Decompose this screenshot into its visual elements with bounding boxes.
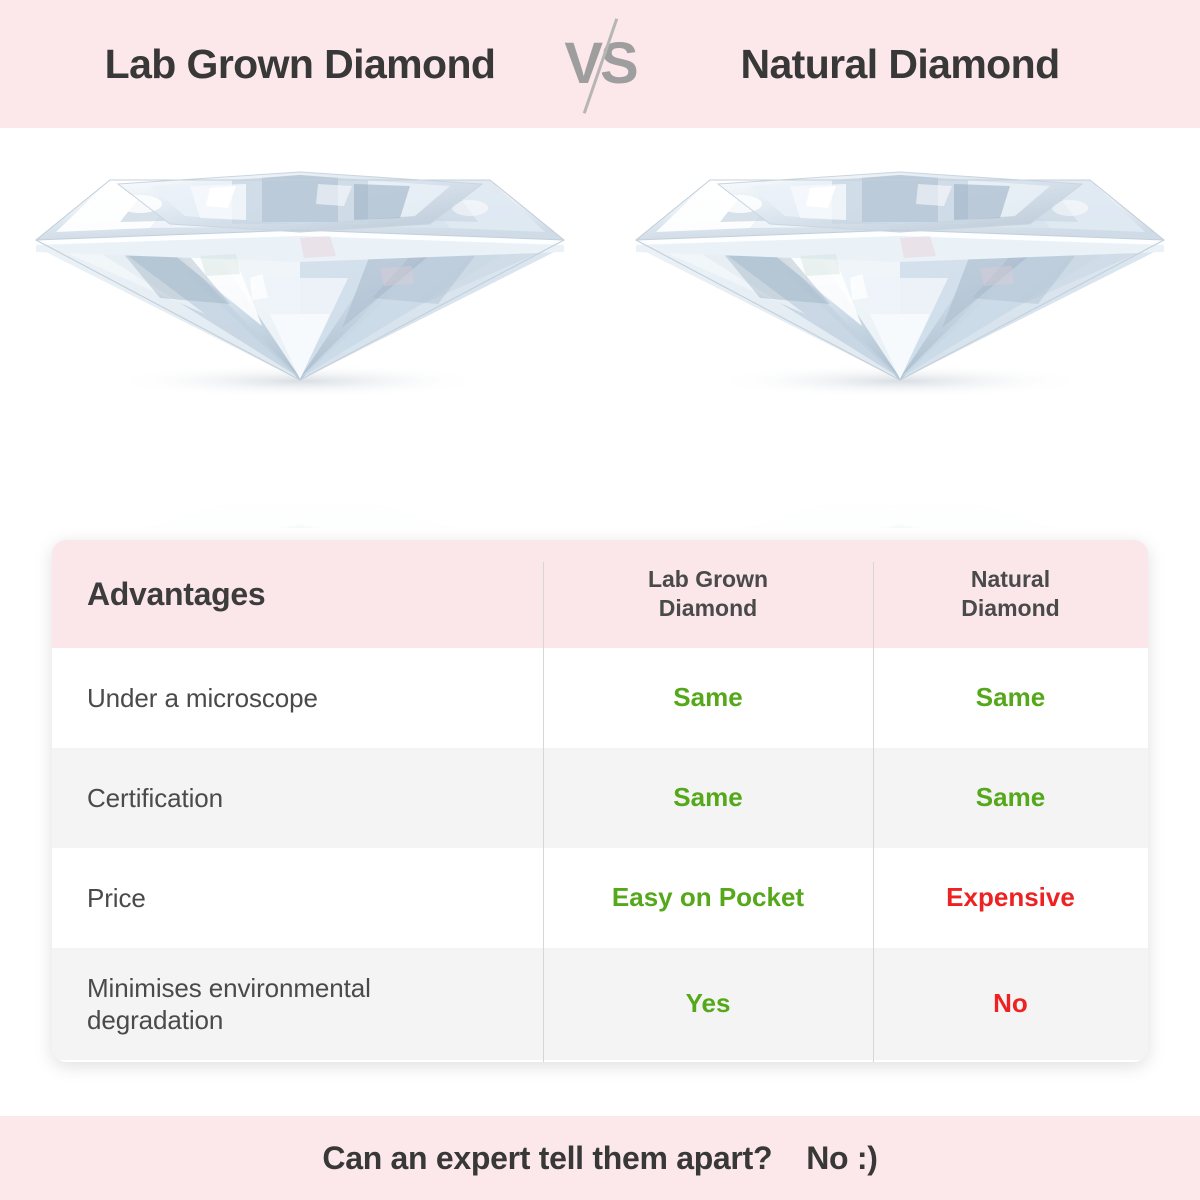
diamond-illustration-icon [600, 128, 1200, 528]
table-row: Minimises environmental degradation Yes … [52, 948, 1148, 1060]
table-header-advantages-cell: Advantages [52, 540, 543, 648]
table-header-lab-grown: Lab Grown Diamond [648, 565, 768, 623]
row-value-natural: No [993, 988, 1028, 1019]
table-header-lab-grown-line2: Diamond [659, 595, 757, 621]
bottom-banner: Can an expert tell them apart? No :) [0, 1116, 1200, 1200]
row-value-lab-cell: Same [543, 748, 873, 848]
header-title-natural: Natural Diamond [660, 44, 1140, 85]
row-value-lab-cell: Same [543, 648, 873, 748]
top-banner: Lab Grown Diamond VS Natural Diamond [0, 0, 1200, 128]
top-banner-inner: Lab Grown Diamond VS Natural Diamond [0, 0, 1200, 128]
row-value-lab-cell: Yes [543, 948, 873, 1060]
row-value-natural-cell: No [873, 948, 1148, 1060]
row-value-natural: Same [976, 782, 1045, 813]
lab-grown-diamond-image [0, 128, 600, 528]
row-label-cell: Certification [52, 748, 543, 848]
diamond-image-row [0, 128, 1200, 528]
column-divider-1 [543, 562, 544, 1062]
footer-question: Can an expert tell them apart? [322, 1140, 772, 1177]
row-value-lab: Same [673, 682, 742, 713]
row-value-lab: Easy on Pocket [612, 882, 804, 913]
row-value-natural-cell: Same [873, 648, 1148, 748]
table-header-natural-cell: Natural Diamond [873, 540, 1148, 648]
diamond-illustration-icon [0, 128, 600, 528]
table-header-row: Advantages Lab Grown Diamond Natural Dia… [52, 540, 1148, 648]
row-value-lab: Same [673, 782, 742, 813]
table-header-advantages: Advantages [87, 576, 265, 613]
row-label: Minimises environmental degradation [87, 972, 371, 1036]
table-header-lab-grown-line1: Lab Grown [648, 566, 768, 592]
row-label: Under a microscope [87, 682, 318, 714]
header-title-lab-grown: Lab Grown Diamond [60, 44, 540, 85]
row-value-natural-cell: Same [873, 748, 1148, 848]
row-label-cell: Under a microscope [52, 648, 543, 748]
row-label: Price [87, 882, 146, 914]
column-divider-2 [873, 562, 874, 1062]
row-value-natural-cell: Expensive [873, 848, 1148, 948]
footer-answer: No :) [806, 1140, 877, 1177]
table-row: Price Easy on Pocket Expensive [52, 848, 1148, 948]
table-header-lab-cell: Lab Grown Diamond [543, 540, 873, 648]
row-value-lab: Yes [686, 988, 731, 1019]
row-value-lab-cell: Easy on Pocket [543, 848, 873, 948]
table-header-natural-line1: Natural [971, 566, 1050, 592]
table-row: Certification Same Same [52, 748, 1148, 848]
row-label-line1: Minimises environmental [87, 973, 371, 1003]
versus-badge: VS [540, 0, 660, 128]
row-value-natural: Same [976, 682, 1045, 713]
natural-diamond-image [600, 128, 1200, 528]
row-label: Certification [87, 782, 223, 814]
table-header-natural: Natural Diamond [961, 565, 1059, 623]
row-value-natural: Expensive [946, 882, 1075, 913]
row-label-line2: degradation [87, 1005, 223, 1035]
table-row: Under a microscope Same Same [52, 648, 1148, 748]
row-label-cell: Minimises environmental degradation [52, 948, 543, 1060]
infographic-page: Lab Grown Diamond VS Natural Diamond [0, 0, 1200, 1200]
row-label-cell: Price [52, 848, 543, 948]
table-header-natural-line2: Diamond [961, 595, 1059, 621]
comparison-table: Advantages Lab Grown Diamond Natural Dia… [52, 540, 1148, 1062]
